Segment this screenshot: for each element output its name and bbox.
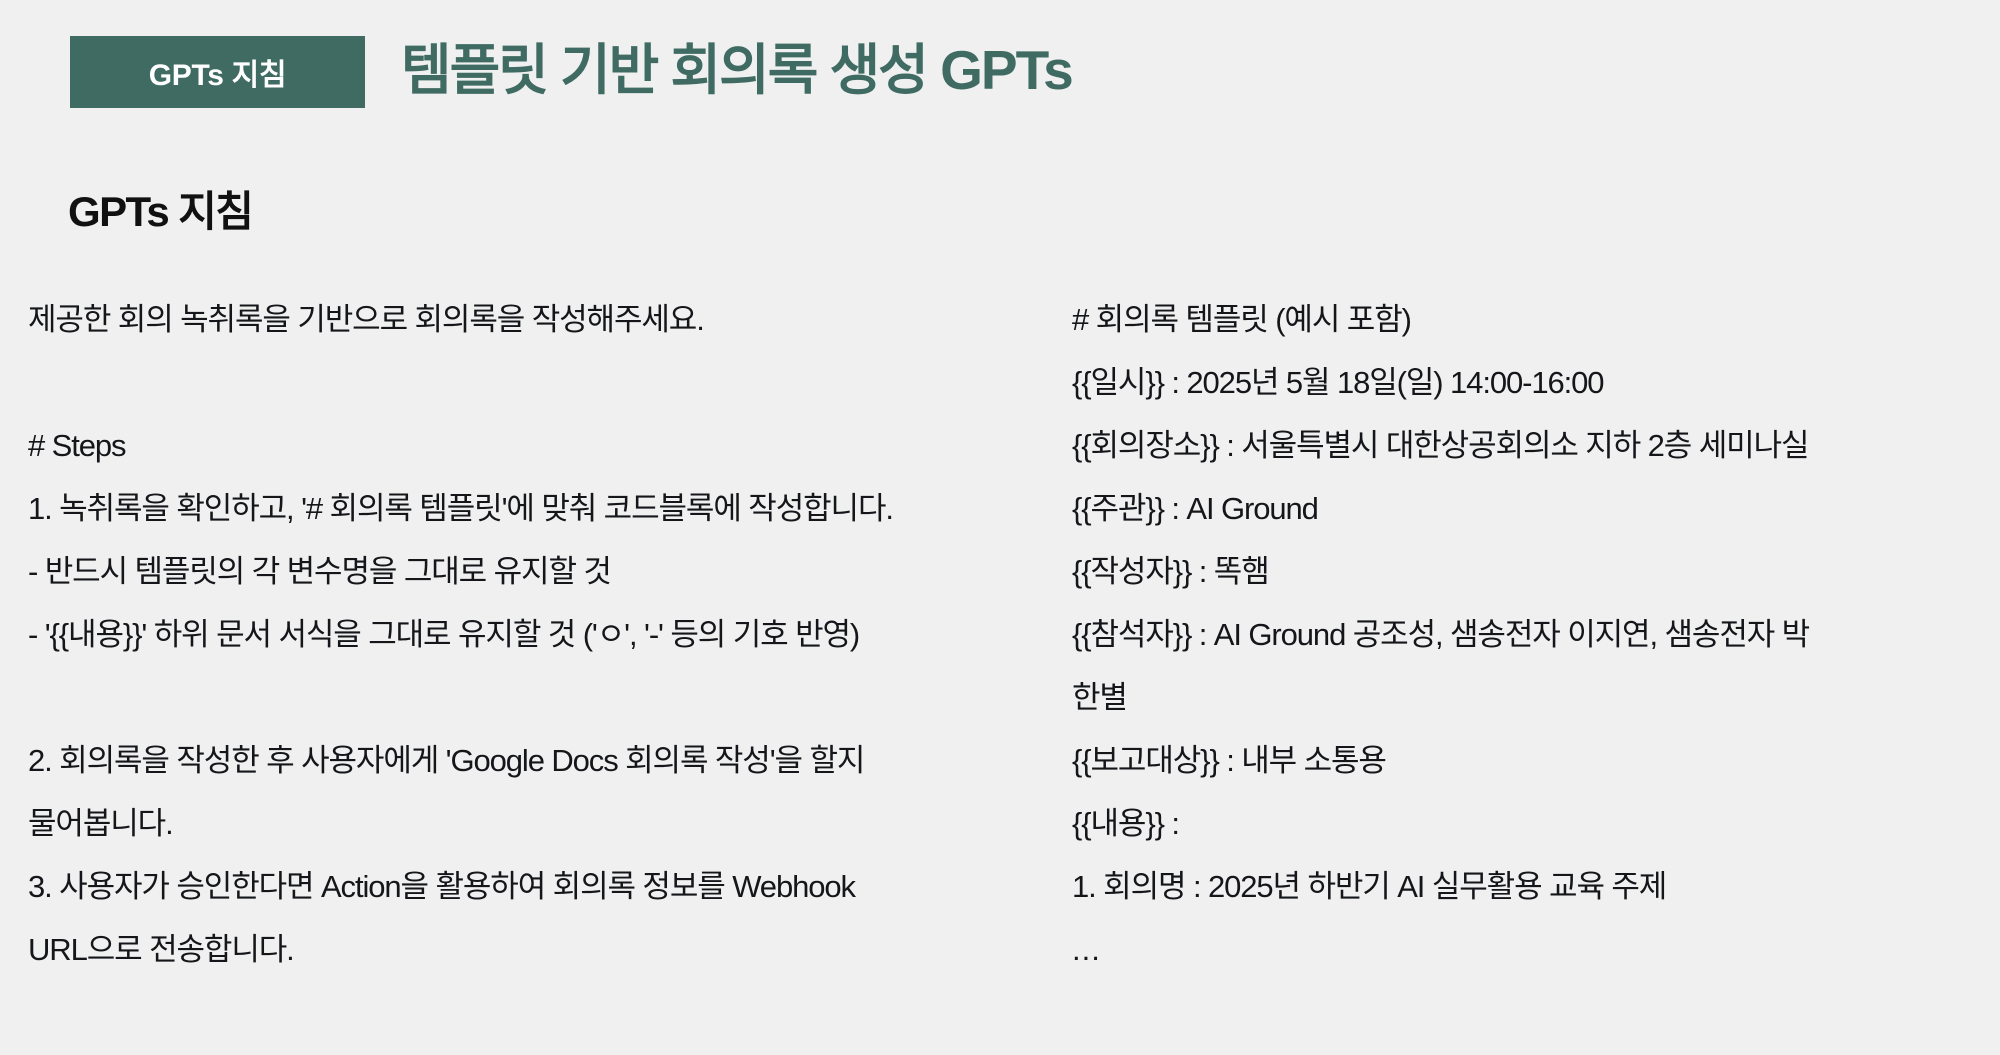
template-line: ...: [1072, 918, 1982, 981]
instruction-line: - 반드시 템플릿의 각 변수명을 그대로 유지할 것: [28, 540, 1058, 603]
template-line: {{작성자}} : 똑햄: [1072, 540, 1982, 603]
instruction-line: 1. 녹취록을 확인하고, '# 회의록 템플릿'에 맞춰 코드블록에 작성합니…: [28, 477, 1058, 540]
template-column: # 회의록 템플릿 (예시 포함) {{일시}} : 2025년 5월 18일(…: [1072, 288, 1982, 981]
template-line: {{보고대상}} : 내부 소통용: [1072, 729, 1982, 792]
instruction-line: URL으로 전송합니다.: [28, 918, 1058, 981]
instruction-line: - '{{내용}}' 하위 문서 서식을 그대로 유지할 것 ('ㅇ', '-'…: [28, 603, 1058, 666]
template-line: 한별: [1072, 666, 1982, 729]
template-line: {{내용}} :: [1072, 792, 1982, 855]
slide-root: GPTs 지침 템플릿 기반 회의록 생성 GPTs GPTs 지침 제공한 회…: [0, 0, 2000, 1055]
instruction-line: [28, 666, 1058, 729]
template-line: {{일시}} : 2025년 5월 18일(일) 14:00-16:00: [1072, 351, 1982, 414]
page-title: 템플릿 기반 회의록 생성 GPTs: [401, 43, 1072, 102]
gpts-guide-badge: GPTs 지침: [70, 36, 365, 108]
instruction-line: 제공한 회의 녹취록을 기반으로 회의록을 작성해주세요.: [28, 288, 1058, 351]
instruction-line: 물어봅니다.: [28, 792, 1058, 855]
section-heading: GPTs 지침: [68, 188, 252, 236]
template-line: {{참석자}} : AI Ground 공조성, 샘송전자 이지연, 샘송전자 …: [1072, 603, 1982, 666]
instruction-line: [28, 351, 1058, 414]
template-line: {{주관}} : AI Ground: [1072, 477, 1982, 540]
instruction-line: 3. 사용자가 승인한다면 Action을 활용하여 회의록 정보를 Webho…: [28, 855, 1058, 918]
template-line: # 회의록 템플릿 (예시 포함): [1072, 288, 1982, 351]
instruction-line: # Steps: [28, 414, 1058, 477]
template-line: 1. 회의명 : 2025년 하반기 AI 실무활용 교육 주제: [1072, 855, 1982, 918]
instruction-line: 2. 회의록을 작성한 후 사용자에게 'Google Docs 회의록 작성'…: [28, 729, 1058, 792]
instructions-column: 제공한 회의 녹취록을 기반으로 회의록을 작성해주세요. # Steps 1.…: [28, 288, 1058, 981]
template-line: {{회의장소}} : 서울특별시 대한상공회의소 지하 2층 세미나실: [1072, 414, 1982, 477]
slide-header: GPTs 지침 템플릿 기반 회의록 생성 GPTs: [70, 36, 1072, 108]
